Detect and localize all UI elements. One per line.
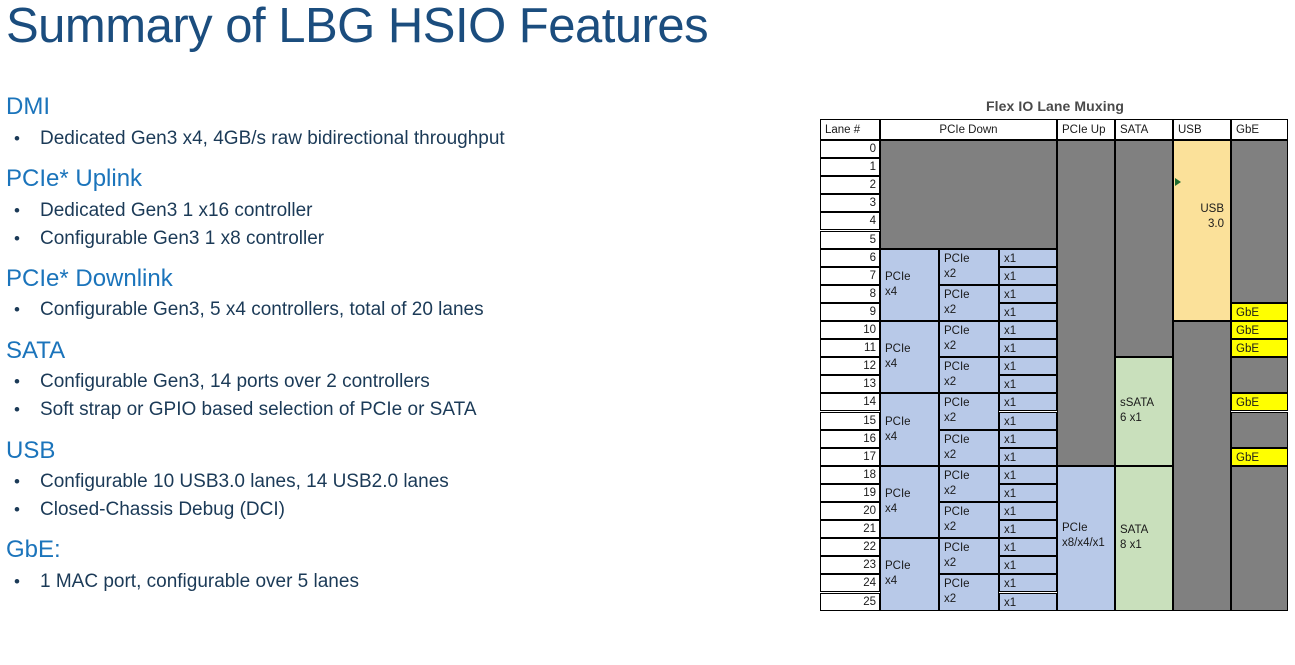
gbe-unused-block xyxy=(1231,466,1288,611)
sata-label-line2: 8 x1 xyxy=(1120,538,1172,553)
bullet-item: •Configurable Gen3 1 x8 controller xyxy=(6,225,796,253)
bullet-item: •Configurable Gen3, 5 x4 controllers, to… xyxy=(6,296,796,324)
pcie-down-x2-label-line1: PCIe xyxy=(944,577,998,592)
pcie-down-x1-cell: x1 xyxy=(999,267,1057,285)
pcie-down-x1-cell: x1 xyxy=(999,502,1057,520)
usb3-label-line2: 3.0 xyxy=(1178,217,1224,232)
gbe-cell: GbE xyxy=(1231,339,1288,357)
gbe-cell: GbE xyxy=(1231,303,1288,321)
lane-number-cell: 24 xyxy=(820,574,880,592)
column-header-pcie-up: PCIe Up xyxy=(1057,119,1115,140)
pcie-down-x2-label-line2: x2 xyxy=(944,448,998,463)
pcie-down-x1-cell: x1 xyxy=(999,574,1057,592)
page-title: Summary of LBG HSIO Features xyxy=(6,0,708,54)
pcie-down-x4-group: PCIex4 xyxy=(880,393,939,465)
pcie-down-x2-group: PCIex2 xyxy=(939,357,999,393)
column-header-sata: SATA xyxy=(1115,119,1173,140)
pcie-down-x4-label-line1: PCIe xyxy=(885,415,938,430)
pcie-down-x4-label-line2: x4 xyxy=(885,357,938,372)
pcie-down-x1-cell: x1 xyxy=(999,249,1057,267)
lane-number-cell: 15 xyxy=(820,412,880,430)
gbe-cell: GbE xyxy=(1231,448,1288,466)
bullet-item: •Dedicated Gen3 1 x16 controller xyxy=(6,197,796,225)
pcie-down-x2-label-line1: PCIe xyxy=(944,288,998,303)
column-header-pcie-down: PCIe Down xyxy=(880,119,1057,140)
pcie-down-x4-label-line1: PCIe xyxy=(885,270,938,285)
bullet-item: •Configurable Gen3, 14 ports over 2 cont… xyxy=(6,368,796,396)
section-heading: PCIe* Uplink xyxy=(6,164,796,195)
pcie-down-x4-label-line1: PCIe xyxy=(885,559,938,574)
lane-number-cell: 9 xyxy=(820,303,880,321)
pcie-down-x1-cell: x1 xyxy=(999,285,1057,303)
bullet-glyph-icon: • xyxy=(6,469,40,494)
pcie-down-x2-group: PCIex2 xyxy=(939,502,999,538)
ssata-label-line2: 6 x1 xyxy=(1120,411,1172,426)
bullet-item: •Dedicated Gen3 x4, 4GB/s raw bidirectio… xyxy=(6,125,796,153)
pcie-down-x2-label-line2: x2 xyxy=(944,339,998,354)
lane-number-cell: 23 xyxy=(820,556,880,574)
pcie-down-x2-group: PCIex2 xyxy=(939,249,999,285)
lane-number-cell: 3 xyxy=(820,194,880,212)
pcie-down-x4-group: PCIex4 xyxy=(880,538,939,610)
pcie-up-block: PCIex8/x4/x1 xyxy=(1057,466,1115,611)
pcie-down-x2-group: PCIex2 xyxy=(939,538,999,574)
usb3-block: USB3.0 xyxy=(1173,140,1231,321)
bullet-glyph-icon: • xyxy=(6,569,40,594)
column-header-lane: Lane # xyxy=(820,119,880,140)
pcie-down-x2-label-line1: PCIe xyxy=(944,396,998,411)
pcie-down-x1-cell: x1 xyxy=(999,520,1057,538)
lane-number-cell: 2 xyxy=(820,176,880,194)
pcie-down-x4-group: PCIex4 xyxy=(880,321,939,393)
pcie-down-x2-label-line1: PCIe xyxy=(944,324,998,339)
bullet-text: Dedicated Gen3 1 x16 controller xyxy=(40,197,796,225)
gbe-unused-block xyxy=(1231,357,1288,393)
pcie-down-x2-group: PCIex2 xyxy=(939,285,999,321)
gbe-unused-block xyxy=(1231,140,1288,303)
pcie-up-label-line1: PCIe xyxy=(1062,521,1114,536)
bullet-text: Closed-Chassis Debug (DCI) xyxy=(40,496,796,524)
gbe-cell: GbE xyxy=(1231,321,1288,339)
flex-io-lane-muxing-diagram: Flex IO Lane Muxing Lane #PCIe DownPCIe … xyxy=(820,98,1290,614)
pcie-down-x2-group: PCIex2 xyxy=(939,466,999,502)
pcie-down-x1-cell: x1 xyxy=(999,484,1057,502)
lane-number-cell: 12 xyxy=(820,357,880,375)
bullet-text: Dedicated Gen3 x4, 4GB/s raw bidirection… xyxy=(40,125,796,153)
pcie-down-x1-cell: x1 xyxy=(999,466,1057,484)
pcie-down-x1-cell: x1 xyxy=(999,303,1057,321)
section-heading: SATA xyxy=(6,336,796,367)
bullet-item: •1 MAC port, configurable over 5 lanes xyxy=(6,568,796,596)
bullet-glyph-icon: • xyxy=(6,497,40,522)
lane-number-cell: 16 xyxy=(820,430,880,448)
feature-sections: DMI•Dedicated Gen3 x4, 4GB/s raw bidirec… xyxy=(6,92,796,607)
feature-section: SATA•Configurable Gen3, 14 ports over 2 … xyxy=(6,336,796,425)
pcie-down-x2-label-line2: x2 xyxy=(944,303,998,318)
bullet-item: •Closed-Chassis Debug (DCI) xyxy=(6,496,796,524)
pcie-down-x2-label-line1: PCIe xyxy=(944,252,998,267)
lane-number-cell: 7 xyxy=(820,267,880,285)
lane-number-cell: 11 xyxy=(820,339,880,357)
pcie-down-x1-cell: x1 xyxy=(999,375,1057,393)
bullet-text: 1 MAC port, configurable over 5 lanes xyxy=(40,568,796,596)
pcie-down-x4-label-line1: PCIe xyxy=(885,342,938,357)
pcie-down-x2-group: PCIex2 xyxy=(939,574,999,610)
feature-section: DMI•Dedicated Gen3 x4, 4GB/s raw bidirec… xyxy=(6,92,796,153)
feature-section: PCIe* Downlink•Configurable Gen3, 5 x4 c… xyxy=(6,264,796,325)
bullet-text: Configurable 10 USB3.0 lanes, 14 USB2.0 … xyxy=(40,468,796,496)
lane-number-cell: 4 xyxy=(820,212,880,230)
bullet-text: Soft strap or GPIO based selection of PC… xyxy=(40,396,796,424)
lane-number-cell: 1 xyxy=(820,158,880,176)
sata-block: SATA8 x1 xyxy=(1115,466,1173,611)
pcie-down-x2-label-line1: PCIe xyxy=(944,541,998,556)
bullet-text: Configurable Gen3 1 x8 controller xyxy=(40,225,796,253)
column-header-usb: USB xyxy=(1173,119,1231,140)
gbe-cell: GbE xyxy=(1231,393,1288,411)
pcie-down-x2-label-line2: x2 xyxy=(944,411,998,426)
pcie-down-x2-label-line1: PCIe xyxy=(944,469,998,484)
pcie-down-x2-label-line1: PCIe xyxy=(944,433,998,448)
lane-number-cell: 21 xyxy=(820,520,880,538)
green-triangle-marker-icon xyxy=(1175,178,1181,186)
pcie-down-x2-group: PCIex2 xyxy=(939,393,999,429)
sata-label-line1: SATA xyxy=(1120,523,1172,538)
pcie-down-x2-label-line2: x2 xyxy=(944,520,998,535)
usb3-label-line1: USB xyxy=(1178,202,1224,217)
pcie-down-x2-label-line2: x2 xyxy=(944,592,998,607)
pcie-down-x2-label-line1: PCIe xyxy=(944,360,998,375)
section-heading: DMI xyxy=(6,92,796,123)
bullet-item: •Soft strap or GPIO based selection of P… xyxy=(6,396,796,424)
lane-number-cell: 17 xyxy=(820,448,880,466)
pcie-down-x1-cell: x1 xyxy=(999,448,1057,466)
pcie-down-x2-label-line2: x2 xyxy=(944,556,998,571)
pcie-down-x1-cell: x1 xyxy=(999,412,1057,430)
lane-number-cell: 5 xyxy=(820,231,880,249)
pcie-down-x1-cell: x1 xyxy=(999,339,1057,357)
diagram-title: Flex IO Lane Muxing xyxy=(820,98,1290,114)
lane-number-cell: 0 xyxy=(820,140,880,158)
gbe-unused-block xyxy=(1231,412,1288,448)
pcie-down-x1-cell: x1 xyxy=(999,556,1057,574)
pcie-down-x2-group: PCIex2 xyxy=(939,321,999,357)
pcie-down-x1-cell: x1 xyxy=(999,357,1057,375)
pcie-down-x2-label-line2: x2 xyxy=(944,484,998,499)
pcie-down-x2-label-line2: x2 xyxy=(944,375,998,390)
bullet-glyph-icon: • xyxy=(6,126,40,151)
pcie-down-x1-cell: x1 xyxy=(999,321,1057,339)
ssata-label-line1: sSATA xyxy=(1120,396,1172,411)
ssata-block: sSATA6 x1 xyxy=(1115,357,1173,466)
section-heading: GbE: xyxy=(6,535,796,566)
lane-number-cell: 19 xyxy=(820,484,880,502)
pcie-down-x2-label-line1: PCIe xyxy=(944,505,998,520)
bullet-glyph-icon: • xyxy=(6,297,40,322)
pcie-down-x4-label-line2: x4 xyxy=(885,502,938,517)
pcie-down-x4-label-line2: x4 xyxy=(885,285,938,300)
feature-section: USB•Configurable 10 USB3.0 lanes, 14 USB… xyxy=(6,436,796,525)
lane-number-cell: 10 xyxy=(820,321,880,339)
bullet-item: •Configurable 10 USB3.0 lanes, 14 USB2.0… xyxy=(6,468,796,496)
lane-number-cell: 8 xyxy=(820,285,880,303)
lane-number-cell: 13 xyxy=(820,375,880,393)
pcie-up-label-line2: x8/x4/x1 xyxy=(1062,536,1114,551)
pcie-down-x4-label-line2: x4 xyxy=(885,430,938,445)
pcie-down-x4-label-line2: x4 xyxy=(885,574,938,589)
lane-number-cell: 20 xyxy=(820,502,880,520)
pcie-down-x1-cell: x1 xyxy=(999,593,1057,611)
usb-unused-bottom xyxy=(1173,321,1231,611)
lane-number-cell: 6 xyxy=(820,249,880,267)
lane-number-cell: 22 xyxy=(820,538,880,556)
bullet-glyph-icon: • xyxy=(6,397,40,422)
lane-muxing-grid: Lane #PCIe DownPCIe UpSATAUSBGbE01234567… xyxy=(820,119,1288,614)
lane-number-cell: 14 xyxy=(820,393,880,411)
section-heading: USB xyxy=(6,436,796,467)
bullet-glyph-icon: • xyxy=(6,369,40,394)
lane-number-cell: 18 xyxy=(820,466,880,484)
pcie-down-x1-cell: x1 xyxy=(999,538,1057,556)
sata-unused-top xyxy=(1115,140,1173,357)
pcie-down-x4-group: PCIex4 xyxy=(880,249,939,321)
lane-number-cell: 25 xyxy=(820,593,880,611)
feature-section: PCIe* Uplink•Dedicated Gen3 1 x16 contro… xyxy=(6,164,796,253)
bullet-glyph-icon: • xyxy=(6,198,40,223)
feature-section: GbE:•1 MAC port, configurable over 5 lan… xyxy=(6,535,796,596)
pcie-down-x2-group: PCIex2 xyxy=(939,430,999,466)
pcie-down-x1-cell: x1 xyxy=(999,430,1057,448)
bullet-text: Configurable Gen3, 5 x4 controllers, tot… xyxy=(40,296,796,324)
section-heading: PCIe* Downlink xyxy=(6,264,796,295)
pcie-down-x1-cell: x1 xyxy=(999,393,1057,411)
pcie-down-x4-group: PCIex4 xyxy=(880,466,939,538)
bullet-text: Configurable Gen3, 14 ports over 2 contr… xyxy=(40,368,796,396)
column-header-gbe: GbE xyxy=(1231,119,1288,140)
pcie-up-unused-block xyxy=(1057,140,1115,466)
pcie-down-unused-block xyxy=(880,140,1057,249)
pcie-down-x2-label-line2: x2 xyxy=(944,267,998,282)
pcie-down-x4-label-line1: PCIe xyxy=(885,487,938,502)
bullet-glyph-icon: • xyxy=(6,226,40,251)
